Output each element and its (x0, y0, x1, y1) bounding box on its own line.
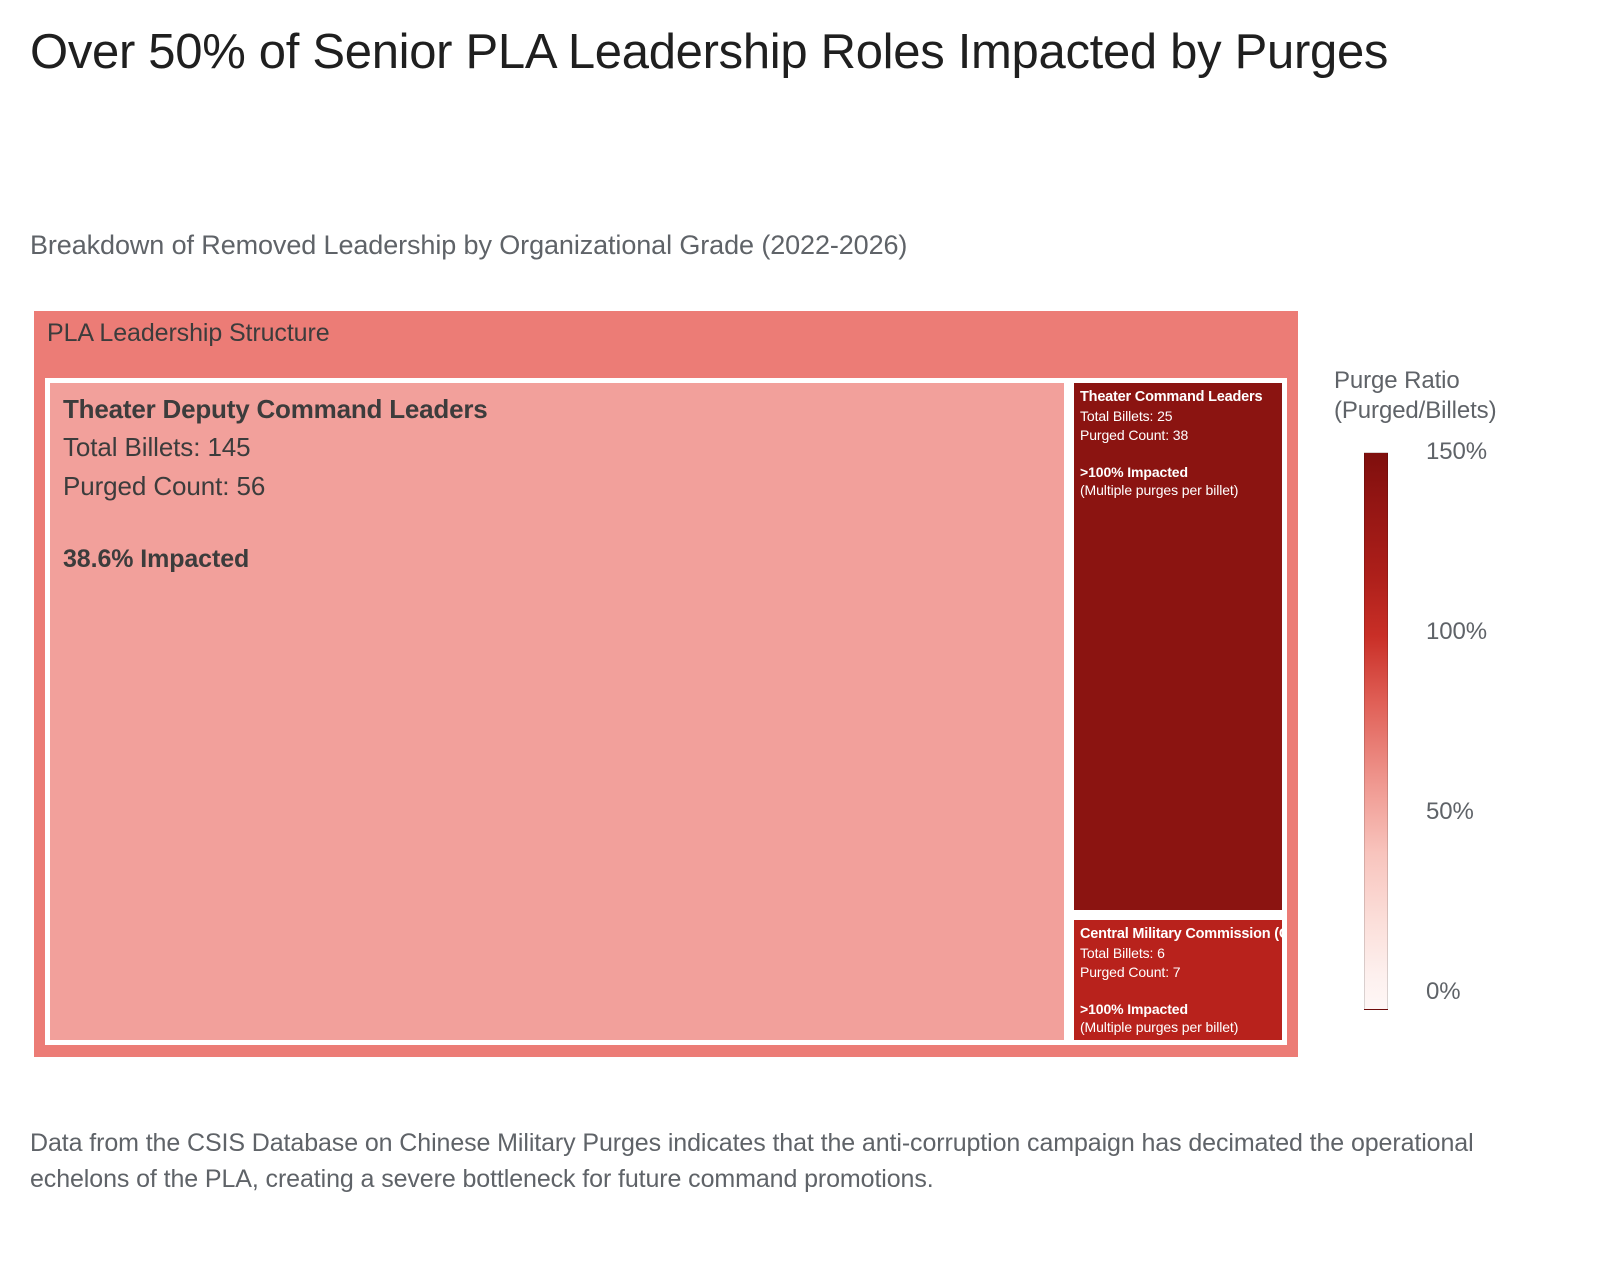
legend-title: Purge Ratio (Purged/Billets) (1334, 366, 1496, 426)
colorbar-tick-50: 50% (1426, 798, 1474, 826)
treemap-root-label: PLA Leadership Structure (47, 319, 330, 348)
tile-label: Theater Deputy Command Leaders (63, 390, 1064, 428)
colorbar-legend: Purge Ratio (Purged/Billets) 150% 100% 5… (1334, 366, 1496, 426)
colorbar-gradient (1364, 452, 1388, 1010)
footer-note: Data from the CSIS Database on Chinese M… (30, 1126, 1530, 1197)
colorbar-tick-0: 0% (1426, 978, 1461, 1006)
treemap-tile-theater-deputy-command-leaders[interactable]: Theater Deputy Command Leaders Total Bil… (45, 378, 1069, 1045)
tile-impact-sublabel: (Multiple purges per billet) (1080, 481, 1282, 500)
colorbar-tick-100: 100% (1426, 618, 1487, 646)
treemap-tile-theater-command-leaders[interactable]: Theater Command Leaders Total Billets: 2… (1069, 378, 1287, 915)
treemap-tile-central-military-commission[interactable]: Central Military Commission (CMC) Total … (1069, 915, 1287, 1045)
colorbar-wrapper: 150% 100% 50% 0% (1364, 452, 1388, 1010)
colorbar-tick-150: 150% (1426, 438, 1487, 466)
tile-spacer (1080, 982, 1282, 1000)
tile-body: Central Military Commission (CMC) Total … (1074, 920, 1282, 1037)
tile-total-billets: Total Billets: 6 (1080, 944, 1282, 963)
tile-total-billets: Total Billets: 25 (1080, 407, 1282, 426)
tile-label: Central Military Commission (CMC) (1080, 925, 1282, 944)
tile-impact-label: >100% Impacted (1080, 1000, 1282, 1019)
tile-spacer (1080, 445, 1282, 463)
tile-impact-sublabel: (Multiple purges per billet) (1080, 1018, 1282, 1037)
tile-total-billets: Total Billets: 145 (63, 428, 1064, 466)
page-subtitle: Breakdown of Removed Leadership by Organ… (30, 230, 1430, 261)
tile-purged-count: Purged Count: 38 (1080, 426, 1282, 445)
tile-spacer (63, 505, 1064, 541)
tile-purged-count: Purged Count: 7 (1080, 963, 1282, 982)
tile-impact-label: 38.6% Impacted (63, 541, 1064, 578)
page-title: Over 50% of Senior PLA Leadership Roles … (30, 24, 1510, 82)
tile-purged-count: Purged Count: 56 (63, 467, 1064, 505)
treemap-chart: PLA Leadership Structure Theater Deputy … (34, 311, 1298, 1057)
tile-impact-label: >100% Impacted (1080, 463, 1282, 482)
tile-body: Theater Deputy Command Leaders Total Bil… (50, 383, 1064, 578)
tile-label: Theater Command Leaders (1080, 388, 1282, 407)
tile-body: Theater Command Leaders Total Billets: 2… (1074, 383, 1282, 500)
